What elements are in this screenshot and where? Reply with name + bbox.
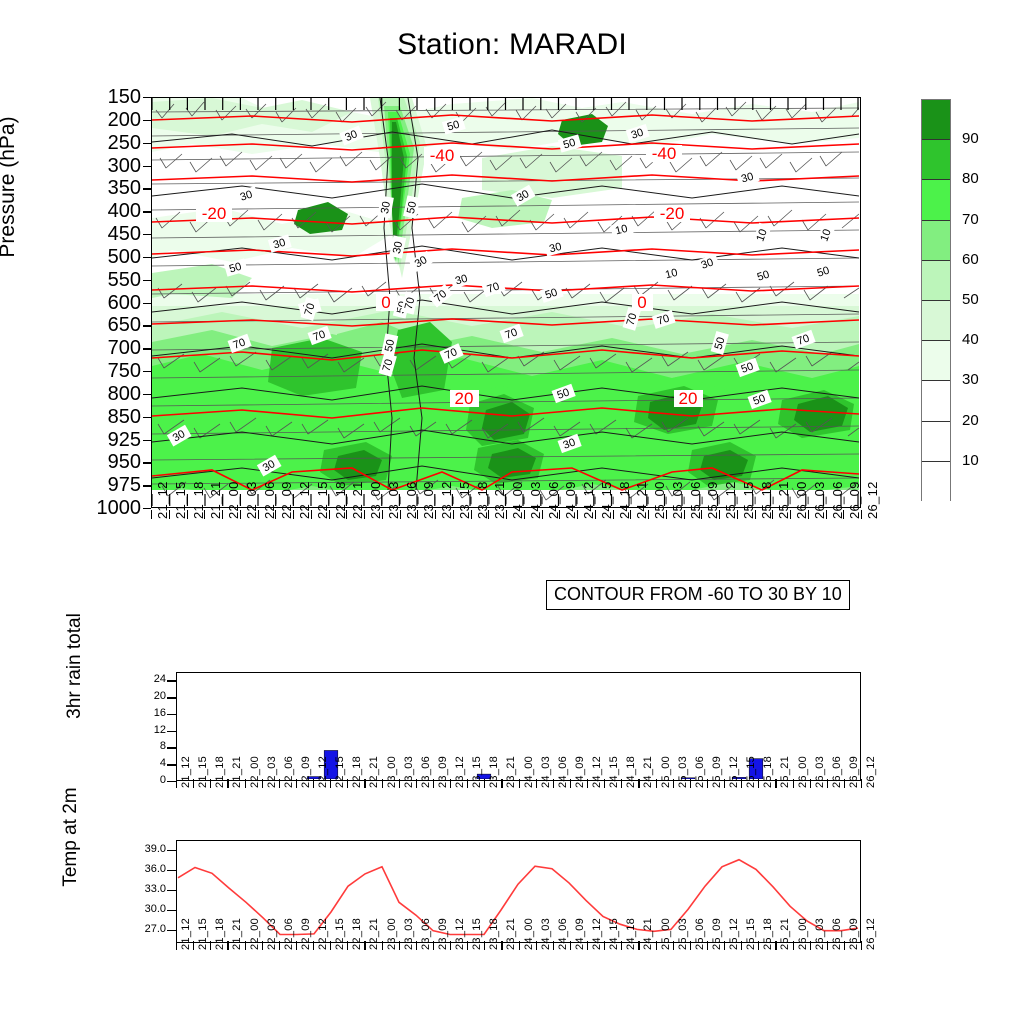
xtick-main-22_09: 22_09: [280, 481, 293, 519]
xtickmark: [741, 779, 742, 788]
rain-tickmark: [167, 697, 176, 698]
isotherm-label-m40b: -40: [652, 144, 677, 163]
xtick-temp-25_12: 25_12: [729, 918, 740, 950]
page-title: Station: MARADI: [0, 28, 1024, 62]
rain-tick-12: 12: [110, 725, 166, 736]
xtickmark: [364, 510, 365, 519]
rain-tick-20: 20: [110, 691, 166, 702]
pressure-tick-975: 975: [59, 475, 141, 495]
xtick-temp-26_06: 26_06: [832, 918, 843, 950]
xtickmark: [501, 779, 502, 788]
xtickmark: [506, 510, 507, 519]
pressure-tick-250: 250: [59, 133, 141, 153]
temperature-line-plot[interactable]: [176, 840, 861, 943]
xtick-temp-23_03: 23_03: [404, 918, 415, 950]
xtick-main-22_15: 22_15: [316, 481, 329, 519]
rain-bar-plot[interactable]: [176, 672, 861, 781]
xtick-rain-22_21: 22_21: [369, 756, 380, 788]
xtick-rain-23_09: 23_09: [438, 756, 449, 788]
xtickmark: [382, 941, 383, 950]
xtickmark: [621, 941, 622, 950]
xtickmark: [382, 510, 383, 519]
colorbar-band-2: [922, 180, 950, 220]
temp-tick-33.0: 33.0: [104, 884, 166, 895]
isotherm-label-m20b: -20: [660, 204, 685, 223]
xtickmark: [227, 941, 228, 950]
xtickmark: [553, 779, 554, 788]
xtick-temp-26_09: 26_09: [849, 918, 860, 950]
rain-tickmark: [167, 747, 176, 748]
xtickmark: [450, 779, 451, 788]
xtickmark: [570, 941, 571, 950]
pressure-tick-1000: 1000: [59, 498, 141, 518]
xtickmark: [400, 510, 401, 519]
xtick-main-26_03: 26_03: [813, 481, 826, 519]
xtick-temp-23_09: 23_09: [438, 918, 449, 950]
xtick-rain-26_12: 26_12: [866, 756, 877, 788]
xtick-temp-22_12: 22_12: [318, 918, 329, 950]
xtickmark: [453, 510, 454, 519]
rain-tick-24: 24: [110, 674, 166, 685]
xtickmark: [673, 779, 674, 788]
xtickmark: [775, 941, 776, 950]
xtickmark: [450, 941, 451, 950]
xtickmark: [861, 510, 862, 519]
xtick-temp-26_00: 26_00: [798, 918, 809, 950]
xtickmark: [399, 941, 400, 950]
rain-tickmark: [167, 731, 176, 732]
xtick-rain-25_06: 25_06: [695, 756, 706, 788]
xtick-temp-25_15: 25_15: [746, 918, 757, 950]
xtick-rain-26_00: 26_00: [798, 756, 809, 788]
xtick-temp-24_21: 24_21: [643, 918, 654, 950]
xtick-main-23_00: 23_00: [369, 481, 382, 519]
xtick-rain-26_06: 26_06: [832, 756, 843, 788]
xtick-main-24_00: 24_00: [511, 481, 524, 519]
pressure-tick-400: 400: [59, 201, 141, 221]
isotherm-label-20a: 20: [455, 389, 474, 408]
xtick-temp-24_09: 24_09: [575, 918, 586, 950]
pressure-tickmark: [143, 462, 151, 463]
xtick-rain-24_12: 24_12: [592, 756, 603, 788]
xtick-temp-24_12: 24_12: [592, 918, 603, 950]
xtick-temp-22_09: 22_09: [301, 918, 312, 950]
colorbar-band-1: [922, 140, 950, 180]
colorbar-band-0: [922, 100, 950, 140]
xtick-main-24_12: 24_12: [582, 481, 595, 519]
xtick-temp-25_03: 25_03: [678, 918, 689, 950]
pressure-tickmark: [143, 280, 151, 281]
colorbar-tick-80: 80: [962, 171, 979, 186]
pressure-tick-700: 700: [59, 338, 141, 358]
xtickmark: [245, 941, 246, 950]
xtick-temp-21_21: 21_21: [232, 918, 243, 950]
xtickmark: [827, 941, 828, 950]
xtickmark: [222, 510, 223, 519]
pressure-tick-925: 925: [59, 430, 141, 450]
xtickmark: [416, 941, 417, 950]
xtick-main-25_00: 25_00: [653, 481, 666, 519]
xtickmark: [484, 941, 485, 950]
xtick-main-25_03: 25_03: [671, 481, 684, 519]
xtick-main-24_21: 24_21: [635, 481, 648, 519]
xtick-rain-25_15: 25_15: [746, 756, 757, 788]
xtickmark: [193, 779, 194, 788]
xtickmark: [279, 779, 280, 788]
temp-tick-27.0: 27.0: [104, 924, 166, 935]
xtickmark: [808, 510, 809, 519]
xtickmark: [604, 941, 605, 950]
xtick-temp-23_12: 23_12: [455, 918, 466, 950]
xtick-main-23_06: 23_06: [405, 481, 418, 519]
rain-panel-ylabel: 3hr rain total: [64, 566, 86, 766]
xtick-main-22_18: 22_18: [334, 481, 347, 519]
xtick-rain-25_00: 25_00: [661, 756, 672, 788]
pressure-tickmark: [143, 440, 151, 441]
pressure-tickmark: [143, 485, 151, 486]
xtick-main-26_00: 26_00: [795, 481, 808, 519]
xtickmark: [151, 510, 152, 519]
colorbar[interactable]: [921, 99, 951, 501]
pressure-tick-300: 300: [59, 156, 141, 176]
pressure-tickmark: [143, 394, 151, 395]
xtickmark: [613, 510, 614, 519]
xtickmark: [382, 779, 383, 788]
xtickmark: [559, 510, 560, 519]
xtickmark: [524, 510, 525, 519]
colorbar-tick-30: 30: [962, 372, 979, 387]
xtick-main-23_21: 23_21: [493, 481, 506, 519]
isotherm-label-m40a: -40: [430, 146, 455, 165]
xtickmark: [227, 779, 228, 788]
pressure-tick-950: 950: [59, 452, 141, 472]
colorbar-tick-60: 60: [962, 252, 979, 267]
xtickmark: [843, 510, 844, 519]
xtickmark: [861, 779, 862, 788]
xtick-temp-22_00: 22_00: [250, 918, 261, 950]
colorbar-tick-70: 70: [962, 212, 979, 227]
pressure-tickmark: [143, 120, 151, 121]
colorbar-tick-50: 50: [962, 292, 979, 307]
rain-tick-0: 0: [110, 775, 166, 786]
pressure-tickmark: [143, 188, 151, 189]
xtick-temp-25_00: 25_00: [661, 918, 672, 950]
pressure-tick-500: 500: [59, 247, 141, 267]
xtick-temp-22_03: 22_03: [267, 918, 278, 950]
colorbar-band-4: [922, 261, 950, 301]
pressure-tickmark: [143, 417, 151, 418]
xtick-rain-24_03: 24_03: [541, 756, 552, 788]
xtick-temp-23_15: 23_15: [472, 918, 483, 950]
pressure-tick-850: 850: [59, 407, 141, 427]
isotherm-label-0b: 0: [637, 293, 646, 312]
xtickmark: [542, 510, 543, 519]
xtick-main-21_12: 21_12: [156, 481, 169, 519]
isotherm-label-0a: 0: [381, 293, 390, 312]
xtickmark: [707, 779, 708, 788]
xtick-rain-24_15: 24_15: [609, 756, 620, 788]
temp-tickmark: [167, 890, 176, 891]
xtick-main-24_06: 24_06: [547, 481, 560, 519]
pressure-tickmark: [143, 166, 151, 167]
xtickmark: [204, 510, 205, 519]
xtick-temp-23_00: 23_00: [387, 918, 398, 950]
svg-text:30: 30: [379, 201, 393, 215]
xtick-rain-21_18: 21_18: [215, 756, 226, 788]
rain-tickmark: [167, 781, 176, 782]
xtick-main-23_15: 23_15: [458, 481, 471, 519]
xtickmark: [690, 779, 691, 788]
xtickmark: [827, 779, 828, 788]
rain-tick-16: 16: [110, 708, 166, 719]
xtickmark: [638, 779, 639, 788]
xtickmark: [707, 941, 708, 950]
xtickmark: [240, 510, 241, 519]
pressure-tickmark: [143, 303, 151, 304]
xtickmark: [656, 779, 657, 788]
isotherm-label-m20a: -20: [202, 204, 227, 223]
main-panel-ylabel: Pressure (hPa): [0, 37, 20, 337]
xtick-temp-22_21: 22_21: [369, 918, 380, 950]
xtick-temp-24_00: 24_00: [524, 918, 535, 950]
xtick-main-23_03: 23_03: [387, 481, 400, 519]
xtick-rain-23_12: 23_12: [455, 756, 466, 788]
xtick-rain-22_03: 22_03: [267, 756, 278, 788]
xtickmark: [536, 941, 537, 950]
xtickmark: [471, 510, 472, 519]
pressure-tickmark: [143, 325, 151, 326]
xtick-rain-25_03: 25_03: [678, 756, 689, 788]
xtick-rain-24_18: 24_18: [626, 756, 637, 788]
xtickmark: [701, 510, 702, 519]
rain-tickmark: [167, 764, 176, 765]
xtickmark: [648, 510, 649, 519]
temp-panel-ylabel: Temp at 2m: [60, 742, 82, 932]
xtickmark: [536, 779, 537, 788]
xtickmark: [630, 510, 631, 519]
xtickmark: [741, 941, 742, 950]
xtickmark: [245, 779, 246, 788]
xtick-temp-25_21: 25_21: [780, 918, 791, 950]
xtickmark: [275, 510, 276, 519]
xtickmark: [724, 941, 725, 950]
xtickmark: [417, 510, 418, 519]
xtickmark: [570, 779, 571, 788]
xtickmark: [604, 779, 605, 788]
colorbar-band-9: [922, 462, 950, 502]
xtick-rain-24_00: 24_00: [524, 756, 535, 788]
xtickmark: [330, 941, 331, 950]
pressure-tick-650: 650: [59, 315, 141, 335]
pressure-tickmark: [143, 371, 151, 372]
xtick-rain-25_18: 25_18: [763, 756, 774, 788]
xtick-main-22_00: 22_00: [227, 481, 240, 519]
xtick-temp-21_18: 21_18: [215, 918, 226, 950]
xtickmark: [313, 941, 314, 950]
xtick-temp-25_09: 25_09: [712, 918, 723, 950]
xtickmark: [621, 779, 622, 788]
xtick-rain-24_09: 24_09: [575, 756, 586, 788]
rain-tickmark: [167, 680, 176, 681]
xtick-main-24_09: 24_09: [564, 481, 577, 519]
contour-note: CONTOUR FROM -60 TO 30 BY 10: [546, 580, 850, 610]
xtickmark: [826, 510, 827, 519]
temp-tickmark: [167, 850, 176, 851]
pressure-tick-550: 550: [59, 270, 141, 290]
xtickmark: [737, 510, 738, 519]
xtickmark: [810, 779, 811, 788]
xtick-main-26_12: 26_12: [866, 481, 879, 519]
xtick-temp-24_18: 24_18: [626, 918, 637, 950]
xtickmark: [364, 779, 365, 788]
xtick-temp-23_21: 23_21: [506, 918, 517, 950]
xtickmark: [467, 941, 468, 950]
xtick-main-24_15: 24_15: [600, 481, 613, 519]
xtickmark: [595, 510, 596, 519]
xtickmark: [790, 510, 791, 519]
colorbar-band-6: [922, 341, 950, 381]
xtickmark: [488, 510, 489, 519]
xtickmark: [690, 941, 691, 950]
xtickmark: [416, 779, 417, 788]
xtickmark: [553, 941, 554, 950]
xtick-main-23_18: 23_18: [476, 481, 489, 519]
cross-section-svg: 30 30 30 50 50 30 50 30 10 10 30 10 10 1…: [152, 98, 859, 506]
xtickmark: [810, 941, 811, 950]
xtick-rain-24_06: 24_06: [558, 756, 569, 788]
xtickmark: [587, 941, 588, 950]
xtick-temp-21_12: 21_12: [181, 918, 192, 950]
xtickmark: [258, 510, 259, 519]
colorbar-tick-40: 40: [962, 332, 979, 347]
xtick-rain-23_00: 23_00: [387, 756, 398, 788]
xtickmark: [433, 779, 434, 788]
xtickmark: [684, 510, 685, 519]
xtick-rain-22_12: 22_12: [318, 756, 329, 788]
xtickmark: [346, 510, 347, 519]
xtick-rain-23_21: 23_21: [506, 756, 517, 788]
temp-tick-39.0: 39.0: [104, 844, 166, 855]
xtickmark: [187, 510, 188, 519]
xtick-temp-25_06: 25_06: [695, 918, 706, 950]
pressure-tickmark: [143, 257, 151, 258]
temp-tickmark: [167, 930, 176, 931]
pressure-tickmark: [143, 97, 151, 98]
xtickmark: [519, 779, 520, 788]
xtickmark: [329, 510, 330, 519]
pressure-tickmark: [143, 234, 151, 235]
xtick-rain-21_15: 21_15: [198, 756, 209, 788]
xtick-main-25_06: 25_06: [689, 481, 702, 519]
xtick-main-22_03: 22_03: [245, 481, 258, 519]
xtick-temp-22_06: 22_06: [284, 918, 295, 950]
xtickmark: [638, 941, 639, 950]
rain-tickmark: [167, 714, 176, 715]
temp-tickmark: [167, 910, 176, 911]
xtick-rain-26_09: 26_09: [849, 756, 860, 788]
xtick-rain-25_12: 25_12: [729, 756, 740, 788]
xtick-main-24_03: 24_03: [529, 481, 542, 519]
xtickmark: [193, 941, 194, 950]
pressure-tickmark: [143, 508, 151, 509]
pressure-tickmark: [143, 143, 151, 144]
xtick-rain-23_03: 23_03: [404, 756, 415, 788]
xtick-temp-26_12: 26_12: [866, 918, 877, 950]
xtickmark: [176, 779, 177, 788]
xtick-rain-24_21: 24_21: [643, 756, 654, 788]
pressure-tick-600: 600: [59, 293, 141, 313]
xtickmark: [724, 779, 725, 788]
xtick-temp-25_18: 25_18: [763, 918, 774, 950]
xtick-main-22_21: 22_21: [351, 481, 364, 519]
xtick-temp-23_18: 23_18: [489, 918, 500, 950]
xtickmark: [364, 941, 365, 950]
xtickmark: [347, 941, 348, 950]
xtick-main-26_09: 26_09: [848, 481, 861, 519]
temp-tickmark: [167, 870, 176, 871]
rain-tick-4: 4: [110, 758, 166, 769]
temp-tick-36.0: 36.0: [104, 864, 166, 875]
xtickmark: [467, 779, 468, 788]
colorbar-tick-90: 90: [962, 131, 979, 146]
xtickmark: [210, 779, 211, 788]
xtickmark: [755, 510, 756, 519]
xtickmark: [330, 779, 331, 788]
xtick-rain-25_21: 25_21: [780, 756, 791, 788]
pressure-tickmark: [143, 211, 151, 212]
xtick-main-25_09: 25_09: [706, 481, 719, 519]
xtickmark: [296, 941, 297, 950]
rain-tick-8: 8: [110, 741, 166, 752]
xtickmark: [169, 510, 170, 519]
xtickmark: [484, 779, 485, 788]
xtickmark: [844, 941, 845, 950]
xtickmark: [587, 779, 588, 788]
xtick-rain-21_12: 21_12: [181, 756, 192, 788]
xtickmark: [656, 941, 657, 950]
pressure-tick-350: 350: [59, 178, 141, 198]
xtick-temp-22_15: 22_15: [335, 918, 346, 950]
xtick-temp-21_15: 21_15: [198, 918, 209, 950]
colorbar-band-5: [922, 301, 950, 341]
xtickmark: [347, 779, 348, 788]
xtick-main-25_15: 25_15: [742, 481, 755, 519]
xtick-rain-22_15: 22_15: [335, 756, 346, 788]
xtickmark: [296, 779, 297, 788]
colorbar-tick-10: 10: [962, 453, 979, 468]
time-height-cross-section-plot[interactable]: 30 30 30 50 50 30 50 30 10 10 30 10 10 1…: [151, 97, 861, 508]
xtick-main-21_21: 21_21: [209, 481, 222, 519]
xtickmark: [577, 510, 578, 519]
pressure-tick-150: 150: [59, 87, 141, 107]
xtick-main-25_21: 25_21: [777, 481, 790, 519]
xtick-rain-25_09: 25_09: [712, 756, 723, 788]
xtickmark: [758, 941, 759, 950]
xtick-rain-23_18: 23_18: [489, 756, 500, 788]
xtickmark: [433, 941, 434, 950]
xtickmark: [519, 941, 520, 950]
pressure-tickmark: [143, 348, 151, 349]
xtickmark: [844, 779, 845, 788]
colorbar-band-3: [922, 221, 950, 261]
xtick-main-22_06: 22_06: [263, 481, 276, 519]
xtickmark: [793, 941, 794, 950]
xtick-temp-23_06: 23_06: [421, 918, 432, 950]
xtickmark: [666, 510, 667, 519]
xtickmark: [262, 779, 263, 788]
xtick-rain-21_21: 21_21: [232, 756, 243, 788]
xtick-temp-22_18: 22_18: [352, 918, 363, 950]
